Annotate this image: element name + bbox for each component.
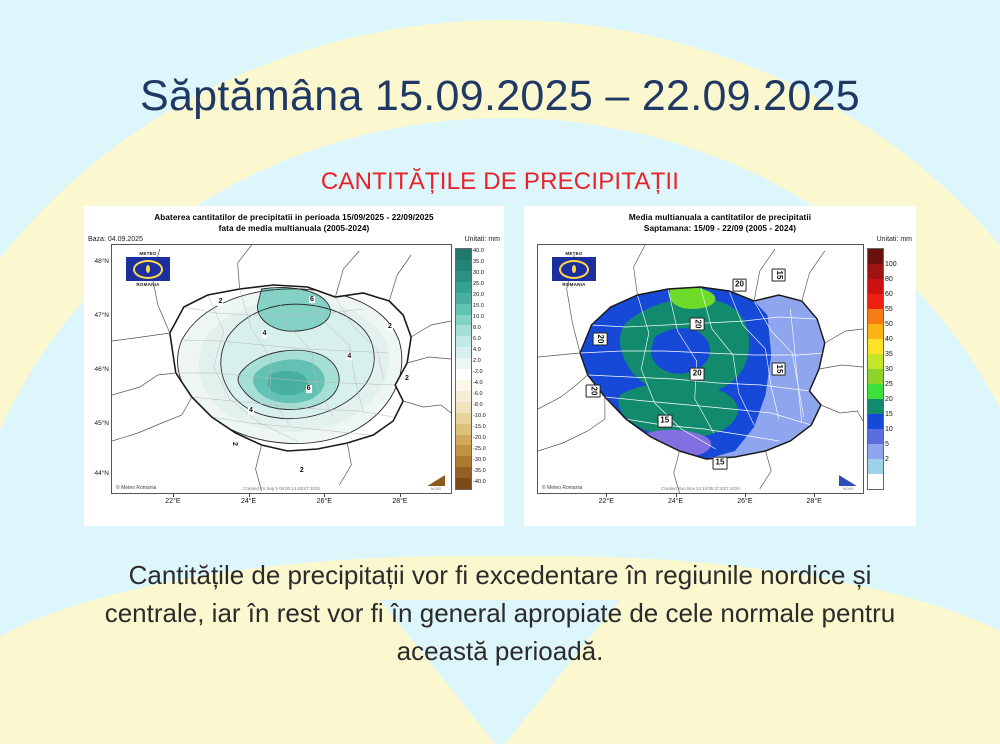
contour-label-2-c: 2 [404,375,410,383]
x-tick-l-3: 28°E [392,498,407,505]
contour-label-2-b: 2 [387,323,393,331]
x-axis-anomaly: 22°E 24°E 26°E 28°E [111,494,455,512]
cb-l-14: -8.0 [473,402,483,408]
logo-badge-right [552,257,596,281]
ncar-mark-icon-right [839,475,857,486]
credit-left: © Meteo Romania [116,485,156,491]
cb-r-5: 40 [885,336,893,343]
page-title: Săptămâna 15.09.2025 – 22.09.2025 [0,72,1000,121]
slide-caption: Cantitățile de precipitații vor fi exced… [80,556,920,671]
logo-oval-icon-right [559,260,589,279]
plot-wrap-anomaly: 48°N 47°N 46°N 45°N 44°N [84,244,504,494]
map-canvas-anomaly[interactable]: 2 4 6 2 4 2 6 4 2 2 METEO ROMANIA © Mete… [111,244,452,494]
meteo-romania-logo-right: METEO ROMANIA [552,251,596,287]
cb-l-16: -15.0 [473,424,486,430]
cb-l-9: 4.0 [473,347,481,353]
y-tick-3: 45°N [94,420,109,427]
baza-label: Baza: 04.09.2025 [88,236,143,243]
ncar-logo-right: NCAR [836,475,860,491]
x-tick-l-1: 24°E [241,498,256,505]
x-axis-clim: 22°E 24°E 26°E 28°E [537,494,867,512]
colorbar-climatology: 100 80 60 55 50 40 35 30 25 20 15 10 5 2 [867,244,913,494]
unitati-label-right: Unitati: mm [877,236,912,243]
ncar-logo-left: NCAR [424,475,448,491]
y-tick-2: 46°N [94,366,109,373]
colorbar-anomaly: 40.0 35.0 30.0 25.0 20.0 15.0 10.0 8.0 6… [455,244,501,494]
cb-l-8: 6.0 [473,336,481,342]
cb-l-21: -40.0 [473,479,486,485]
logo-top-text-left: METEO [126,251,170,256]
clim-label-15-a: 15 [771,268,786,281]
cb-r-7: 30 [885,366,893,373]
x-tick-l-2: 26°E [317,498,332,505]
map-title-clim-line2: Saptamana: 15/09 - 22/09 (2005 - 2024) [524,223,916,234]
cb-r-0: 100 [885,261,897,268]
cb-l-15: -10.0 [473,413,486,419]
clim-label-20-b: 20 [690,318,705,331]
clim-label-20-a: 20 [732,278,747,291]
page-subtitle: CANTITĂȚILE DE PRECIPITAȚII [0,168,1000,196]
cb-l-10: 2.0 [473,358,481,364]
cb-r-8: 25 [885,381,893,388]
map-title-clim-line1: Media multianuala a cantitatilor de prec… [524,212,916,223]
y-tick-4: 44°N [94,470,109,477]
cb-l-1: 35.0 [473,259,484,265]
cb-l-0: 40.0 [473,248,484,254]
contour-label-6-b: 6 [306,385,312,393]
map-canvas-clim[interactable]: 20 15 20 20 15 20 20 15 15 METEO ROMANIA… [537,244,864,494]
plot-wrap-clim: 20 15 20 20 15 20 20 15 15 METEO ROMANIA… [524,244,916,494]
x-tick-l-0: 22°E [165,498,180,505]
contour-label-4-b: 4 [346,353,352,361]
x-tick-r-0: 22°E [599,498,614,505]
clim-label-20-c: 20 [592,333,607,346]
x-tick-r-1: 24°E [668,498,683,505]
cb-l-13: -6.0 [473,391,483,397]
cb-l-12: -4.0 [473,380,483,386]
cb-r-10: 15 [885,411,893,418]
clim-label-15-c: 15 [713,457,728,470]
logo-bottom-text-right: ROMANIA [552,282,596,287]
map-title-anomaly-line2: fata de media multianuala (2005-2024) [84,223,504,234]
cb-r-12: 5 [885,441,889,448]
clim-label-20-e: 20 [586,385,601,398]
x-tick-r-3: 28°E [807,498,822,505]
clim-label-15-b: 15 [771,363,786,376]
unitati-label-left: Unitati: mm [465,236,500,243]
created-stamp-right: Created Sun Nov 24 16:05:37 EET 2024 [661,486,740,491]
y-axis-clim [527,244,537,494]
map-meta-anomaly: Baza: 04.09.2025 Unitati: mm [84,234,504,244]
contour-label-6-a: 6 [309,296,315,304]
meteo-romania-logo-left: METEO ROMANIA [126,251,170,287]
cb-l-2: 30.0 [473,270,484,276]
contour-label-4-c: 4 [248,407,254,415]
ncar-mark-icon-left [427,475,445,486]
created-stamp-left: Created Fri Sep 5 06:00:14 EEST 2025 [243,486,320,491]
logo-dot-icon-left [146,265,150,273]
cb-r-1: 80 [885,276,893,283]
cb-r-2: 60 [885,291,893,298]
contour-label-2-e: 2 [299,467,305,475]
ncar-text-left: NCAR [424,487,448,491]
cb-r-9: 20 [885,396,893,403]
cb-l-17: -20.0 [473,435,486,441]
map-panel-anomaly: Abaterea cantitatilor de precipitatii in… [84,206,504,526]
logo-oval-icon-left [133,260,163,279]
cb-l-7: 8.0 [473,325,481,331]
map-panel-climatology: Media multianuala a cantitatilor de prec… [524,206,916,526]
cb-l-5: 15.0 [473,303,484,309]
logo-top-text-right: METEO [552,251,596,256]
cb-l-11: -2.0 [473,369,483,375]
clim-label-20-f: 15 [657,415,672,428]
contour-label-2-d: 2 [229,442,239,446]
y-tick-0: 48°N [94,258,109,265]
clim-label-20-d: 20 [690,368,705,381]
x-tick-r-2: 26°E [737,498,752,505]
cb-l-18: -25.0 [473,446,486,452]
map-title-anomaly-line1: Abaterea cantitatilor de precipitatii in… [84,212,504,223]
cb-r-11: 10 [885,426,893,433]
credit-right: © Meteo Romania [542,485,582,491]
cb-r-6: 35 [885,351,893,358]
y-tick-1: 47°N [94,312,109,319]
map-meta-clim: Unitati: mm [524,234,916,244]
ncar-text-right: NCAR [836,487,860,491]
contour-label-4-a: 4 [262,331,268,339]
cb-l-3: 25.0 [473,281,484,287]
cb-r-13: 2 [885,456,889,463]
cb-l-6: 10.0 [473,314,484,320]
logo-bottom-text-left: ROMANIA [126,282,170,287]
cb-r-4: 50 [885,321,893,328]
cb-l-4: 20.0 [473,292,484,298]
colorbar-swatches-right [867,248,884,490]
contour-label-2-a: 2 [218,298,224,306]
y-axis-anomaly: 48°N 47°N 46°N 45°N 44°N [87,244,111,494]
cb-r-3: 55 [885,306,893,313]
colorbar-swatches-left [455,248,472,490]
cb-l-20: -35.0 [473,468,486,474]
logo-dot-icon-right [572,265,576,273]
logo-badge-left [126,257,170,281]
cb-l-19: -30.0 [473,457,486,463]
